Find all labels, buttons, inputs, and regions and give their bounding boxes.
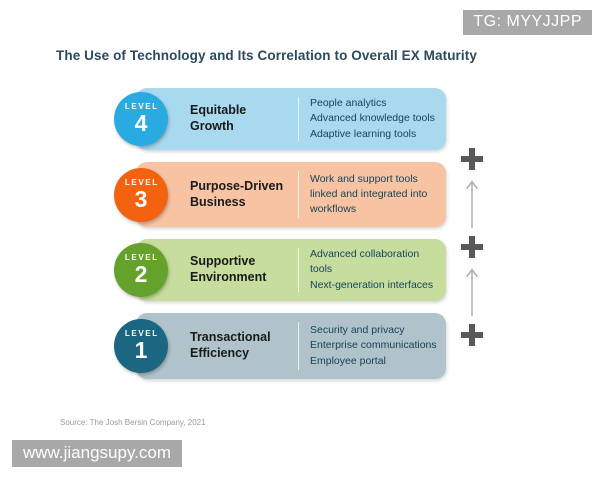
level-title-line2: Environment xyxy=(190,270,292,286)
level-item: Advanced collaboration tools xyxy=(310,247,428,277)
level-item: Work and support tools linked and integr… xyxy=(310,172,446,218)
level-title: Equitable Growth xyxy=(190,103,298,134)
level-badge-number: 2 xyxy=(135,263,148,286)
tg-tag: TG: MYYJJPP xyxy=(463,10,592,35)
level-items: People analytics Advanced knowledge tool… xyxy=(299,96,446,142)
source-caption: Source: The Josh Bersin Company, 2021 xyxy=(60,418,206,427)
level-item: Security and privacy xyxy=(310,323,446,338)
arrow-up-icon xyxy=(464,176,480,228)
level-title-line2: Business xyxy=(190,195,292,211)
plus-symbol xyxy=(450,148,494,170)
watermark: www.jiangsupy.com xyxy=(12,440,182,467)
level-badge-number: 4 xyxy=(135,112,148,135)
plus-icon xyxy=(461,236,483,258)
level-row: LEVEL 1 Transactional Efficiency Securit… xyxy=(136,313,446,379)
level-title: Purpose-Driven Business xyxy=(190,179,298,210)
level-item: Employee portal xyxy=(310,354,446,369)
level-title: Supportive Environment xyxy=(190,254,298,285)
level-item: Next-generation interfaces xyxy=(310,278,446,293)
arrow-symbol xyxy=(450,176,494,228)
level-title-line1: Transactional xyxy=(190,330,292,346)
level-items: Security and privacy Enterprise communic… xyxy=(299,323,446,369)
maturity-levels-list: LEVEL 4 Equitable Growth People analytic… xyxy=(136,88,446,391)
level-title: Transactional Efficiency xyxy=(190,330,298,361)
plus-symbol xyxy=(450,324,494,346)
connector-column xyxy=(450,88,494,378)
level-title-line2: Efficiency xyxy=(190,346,292,362)
level-title-line2: Growth xyxy=(190,119,292,135)
level-badge: LEVEL 1 xyxy=(114,319,168,373)
level-item: Adaptive learning tools xyxy=(310,127,446,142)
plus-symbol xyxy=(450,236,494,258)
page-title: The Use of Technology and Its Correlatio… xyxy=(56,48,477,63)
level-item: People analytics xyxy=(310,96,446,111)
level-title-line1: Purpose-Driven xyxy=(190,179,292,195)
level-row: LEVEL 3 Purpose-Driven Business Work and… xyxy=(136,162,446,227)
plus-icon xyxy=(461,148,483,170)
arrow-up-icon xyxy=(464,264,480,316)
level-item: Enterprise communications xyxy=(310,338,446,353)
level-badge-number: 1 xyxy=(135,339,148,362)
level-badge: LEVEL 2 xyxy=(114,243,168,297)
level-item: Advanced knowledge tools xyxy=(310,111,446,126)
plus-icon xyxy=(461,324,483,346)
arrow-symbol xyxy=(450,264,494,316)
level-badge: LEVEL 4 xyxy=(114,92,168,146)
level-badge: LEVEL 3 xyxy=(114,168,168,222)
level-badge-number: 3 xyxy=(135,188,148,211)
level-title-line1: Equitable xyxy=(190,103,292,119)
level-title-line1: Supportive xyxy=(190,254,292,270)
level-items: Work and support tools linked and integr… xyxy=(299,172,446,218)
level-row: LEVEL 2 Supportive Environment Advanced … xyxy=(136,239,446,301)
level-row: LEVEL 4 Equitable Growth People analytic… xyxy=(136,88,446,150)
level-items: Advanced collaboration tools Next-genera… xyxy=(299,247,446,293)
